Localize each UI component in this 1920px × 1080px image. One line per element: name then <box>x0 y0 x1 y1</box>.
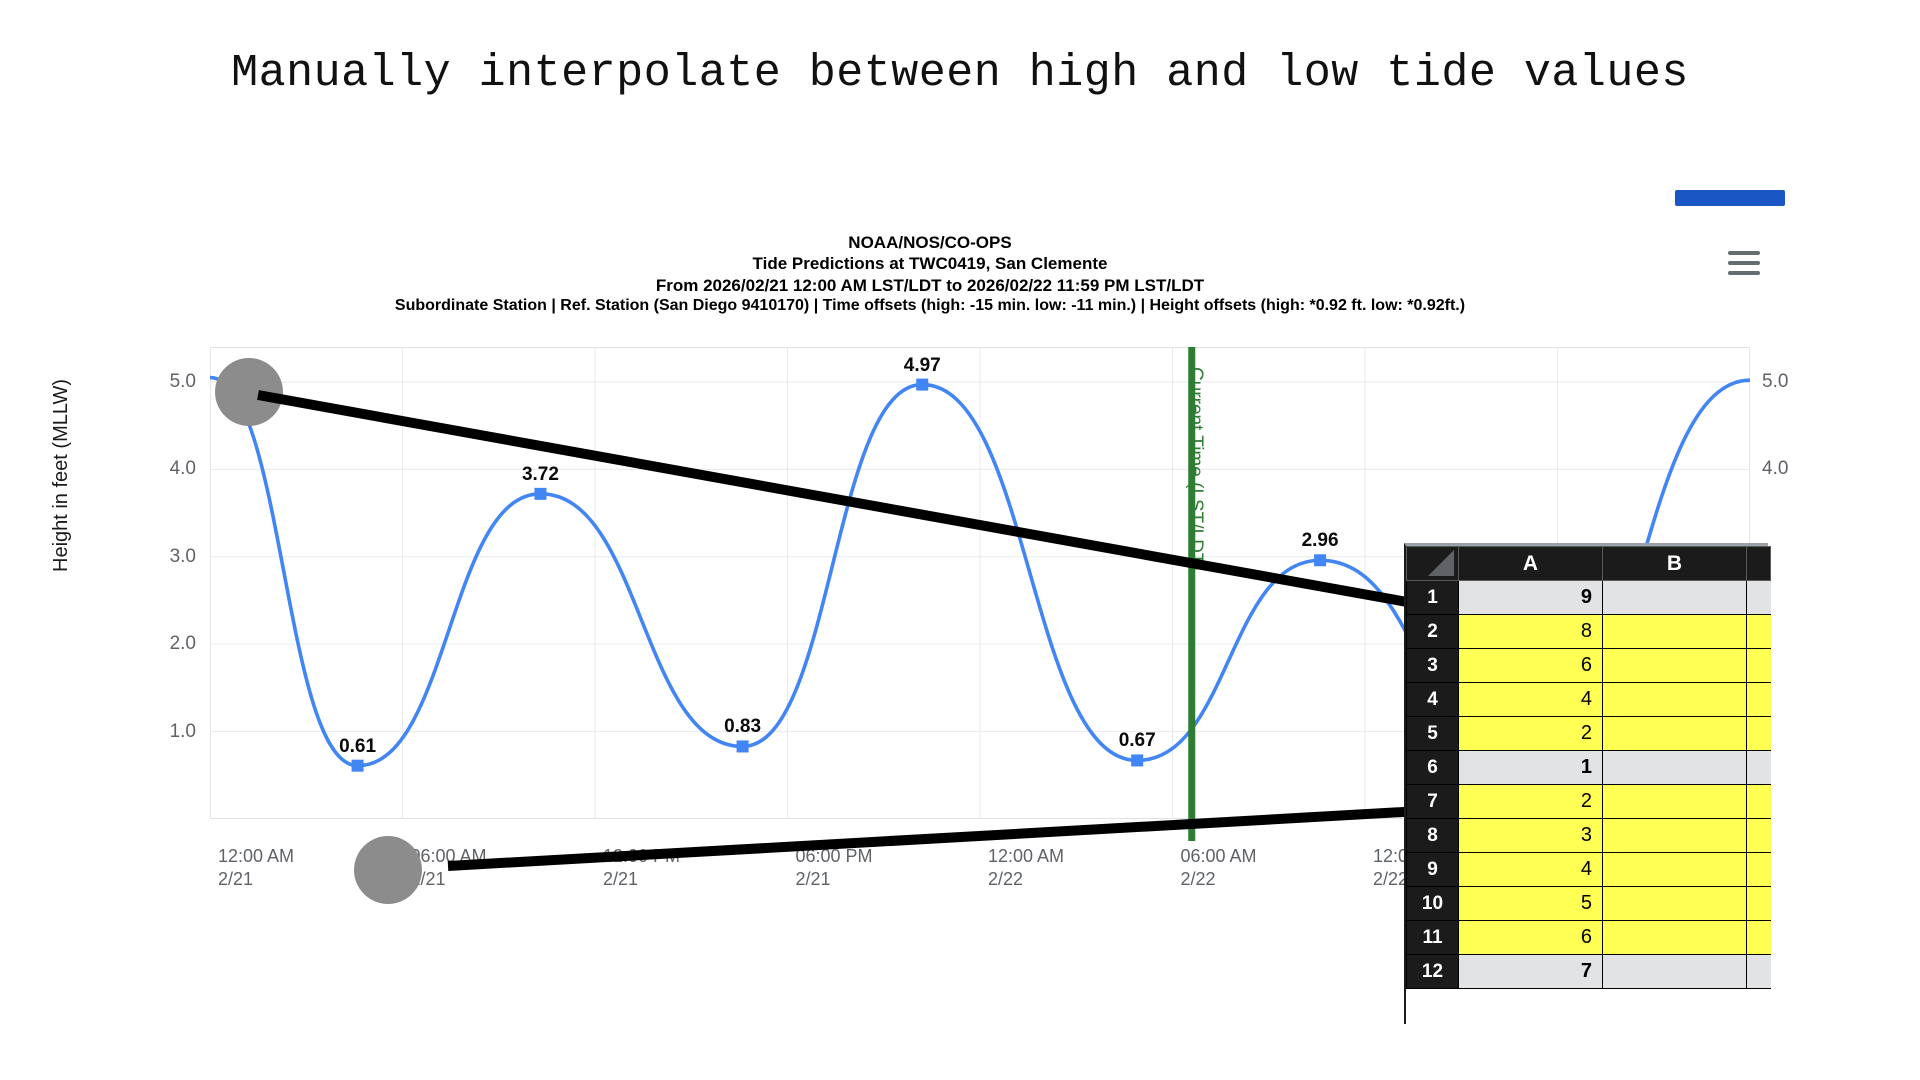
cell-a2[interactable]: 8 <box>1459 615 1603 649</box>
row-header[interactable]: 12 <box>1407 955 1459 989</box>
cell-b9[interactable] <box>1603 853 1747 887</box>
row-header[interactable]: 2 <box>1407 615 1459 649</box>
page-title: Manually interpolate between high and lo… <box>0 48 1920 99</box>
data-point-value-label: 0.83 <box>724 716 761 738</box>
cell-b1[interactable] <box>1603 581 1747 615</box>
chart-header-line-1: NOAA/NOS/CO-OPS <box>60 232 1800 253</box>
cell-c11[interactable] <box>1747 921 1771 955</box>
y-tick-label: 4.0 <box>136 458 196 480</box>
table-row[interactable]: 127 <box>1407 955 1771 989</box>
table-row[interactable]: 52 <box>1407 717 1771 751</box>
table-row[interactable]: 105 <box>1407 887 1771 921</box>
cell-c7[interactable] <box>1747 785 1771 819</box>
data-point-value-label: 0.61 <box>339 736 376 758</box>
data-point-marker[interactable] <box>1314 554 1326 566</box>
column-header-c[interactable] <box>1747 547 1771 581</box>
row-header[interactable]: 1 <box>1407 581 1459 615</box>
table-row[interactable]: 72 <box>1407 785 1771 819</box>
chart-header: NOAA/NOS/CO-OPS Tide Predictions at TWC0… <box>60 232 1800 316</box>
x-tick-label: 06:00 AM2/21 <box>411 845 487 890</box>
column-header-b[interactable]: B <box>1603 547 1747 581</box>
data-point-marker[interactable] <box>352 760 364 772</box>
cell-a10[interactable]: 5 <box>1459 887 1603 921</box>
cell-b10[interactable] <box>1603 887 1747 921</box>
cell-c6[interactable] <box>1747 751 1771 785</box>
x-tick-label: 06:00 AM2/22 <box>1181 845 1257 890</box>
data-point-marker[interactable] <box>737 740 749 752</box>
row-header[interactable]: 7 <box>1407 785 1459 819</box>
cell-b7[interactable] <box>1603 785 1747 819</box>
spreadsheet-header-row: A B <box>1407 547 1771 581</box>
corner-triangle-icon <box>1428 550 1454 576</box>
table-row[interactable]: 94 <box>1407 853 1771 887</box>
x-tick-label: 06:00 PM2/21 <box>796 845 873 890</box>
x-tick-label: 12:00 PM2/21 <box>603 845 680 890</box>
y-tick-label: 3.0 <box>136 546 196 568</box>
row-header[interactable]: 3 <box>1407 649 1459 683</box>
cell-c9[interactable] <box>1747 853 1771 887</box>
cell-c1[interactable] <box>1747 581 1771 615</box>
cell-c4[interactable] <box>1747 683 1771 717</box>
cell-c8[interactable] <box>1747 819 1771 853</box>
table-row[interactable]: 28 <box>1407 615 1771 649</box>
cell-a7[interactable]: 2 <box>1459 785 1603 819</box>
spreadsheet-overlay[interactable]: A B 192836445261728394105116127 <box>1404 543 1768 1024</box>
chart-header-line-4: Subordinate Station | Ref. Station (San … <box>60 296 1800 316</box>
cell-a9[interactable]: 4 <box>1459 853 1603 887</box>
column-header-a[interactable]: A <box>1459 547 1603 581</box>
cell-c10[interactable] <box>1747 887 1771 921</box>
row-header[interactable]: 11 <box>1407 921 1459 955</box>
cell-c3[interactable] <box>1747 649 1771 683</box>
spreadsheet-body: 192836445261728394105116127 <box>1407 581 1771 989</box>
row-header[interactable]: 9 <box>1407 853 1459 887</box>
y-tick-label: 1.0 <box>136 721 196 743</box>
cell-b8[interactable] <box>1603 819 1747 853</box>
cell-c5[interactable] <box>1747 717 1771 751</box>
row-header[interactable]: 5 <box>1407 717 1459 751</box>
spreadsheet-table: A B 192836445261728394105116127 <box>1406 546 1771 989</box>
cell-c12[interactable] <box>1747 955 1771 989</box>
chart-header-line-3: From 2026/02/21 12:00 AM LST/LDT to 2026… <box>60 275 1800 296</box>
data-point-value-label: 3.72 <box>522 464 559 486</box>
y-tick-label: 5.0 <box>136 371 196 393</box>
cell-a4[interactable]: 4 <box>1459 683 1603 717</box>
data-point-marker[interactable] <box>916 379 928 391</box>
slide-root: Manually interpolate between high and lo… <box>0 0 1920 1080</box>
row-header[interactable]: 10 <box>1407 887 1459 921</box>
cell-a1[interactable]: 9 <box>1459 581 1603 615</box>
data-point-value-label: 0.67 <box>1119 730 1156 752</box>
cell-b6[interactable] <box>1603 751 1747 785</box>
cell-a3[interactable]: 6 <box>1459 649 1603 683</box>
cell-a12[interactable]: 7 <box>1459 955 1603 989</box>
y-axis-label: Height in feet (MLLW) <box>50 379 73 572</box>
table-row[interactable]: 61 <box>1407 751 1771 785</box>
chart-header-line-2: Tide Predictions at TWC0419, San Clement… <box>60 253 1800 274</box>
table-row[interactable]: 36 <box>1407 649 1771 683</box>
cell-a6[interactable]: 1 <box>1459 751 1603 785</box>
data-point-value-label: 4.97 <box>904 355 941 377</box>
data-point-marker[interactable] <box>1131 754 1143 766</box>
table-row[interactable]: 83 <box>1407 819 1771 853</box>
blue-accent-bar[interactable] <box>1675 190 1785 206</box>
table-row[interactable]: 44 <box>1407 683 1771 717</box>
cell-b3[interactable] <box>1603 649 1747 683</box>
cell-b5[interactable] <box>1603 717 1747 751</box>
data-point-value-label: 2.96 <box>1302 530 1339 552</box>
cell-b12[interactable] <box>1603 955 1747 989</box>
x-tick-label: 12:00 AM2/21 <box>218 845 294 890</box>
y-tick-label-right: 5.0 <box>1762 371 1822 393</box>
cell-a5[interactable]: 2 <box>1459 717 1603 751</box>
cell-c2[interactable] <box>1747 615 1771 649</box>
row-header[interactable]: 8 <box>1407 819 1459 853</box>
cell-a11[interactable]: 6 <box>1459 921 1603 955</box>
cell-a8[interactable]: 3 <box>1459 819 1603 853</box>
cell-b4[interactable] <box>1603 683 1747 717</box>
y-tick-label-right: 4.0 <box>1762 458 1822 480</box>
data-point-marker[interactable] <box>534 488 546 500</box>
current-time-label: Current Time (LST/LDT) <box>1184 367 1206 571</box>
y-tick-label: 2.0 <box>136 633 196 655</box>
x-tick-label: 12:00 AM2/22 <box>988 845 1064 890</box>
select-all-corner-icon[interactable] <box>1407 547 1459 581</box>
row-header[interactable]: 6 <box>1407 751 1459 785</box>
cell-b11[interactable] <box>1603 921 1747 955</box>
row-header[interactable]: 4 <box>1407 683 1459 717</box>
table-row[interactable]: 19 <box>1407 581 1771 615</box>
table-row[interactable]: 116 <box>1407 921 1771 955</box>
cell-b2[interactable] <box>1603 615 1747 649</box>
